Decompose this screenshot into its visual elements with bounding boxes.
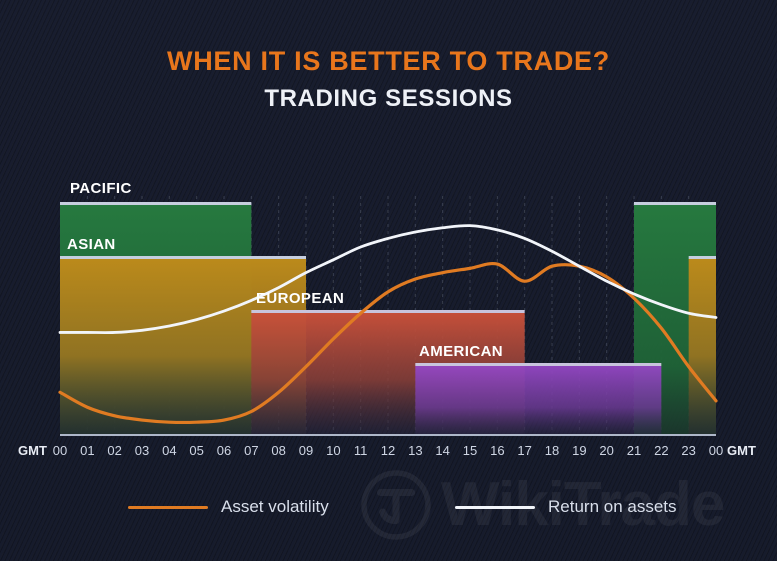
axis-tick-3: 03 (135, 443, 149, 458)
axis-tick-23: 23 (681, 443, 695, 458)
axis-unit-right: GMT (727, 443, 756, 458)
axis-tick-17: 17 (517, 443, 531, 458)
axis-tick-11: 11 (354, 443, 368, 458)
axis-tick-20: 20 (599, 443, 613, 458)
chart-legend: Asset volatilityReturn on assets (0, 497, 777, 525)
axis-tick-10: 10 (326, 443, 340, 458)
legend-item-asset-volatility: Asset volatility (128, 497, 329, 517)
legend-swatch-asset-volatility (128, 506, 208, 509)
legend-label-asset-volatility: Asset volatility (221, 497, 329, 517)
axis-tick-5: 05 (189, 443, 203, 458)
legend-swatch-return-on-assets (455, 506, 535, 509)
axis-tick-7: 07 (244, 443, 258, 458)
axis-tick-13: 13 (408, 443, 422, 458)
axis-tick-9: 09 (299, 443, 313, 458)
axis-tick-21: 21 (627, 443, 641, 458)
time-axis: GMT GMT 00010203040506070809101112131415… (0, 443, 777, 463)
axis-tick-18: 18 (545, 443, 559, 458)
axis-tick-19: 19 (572, 443, 586, 458)
axis-tick-12: 12 (381, 443, 395, 458)
axis-tick-16: 16 (490, 443, 504, 458)
axis-tick-8: 08 (271, 443, 285, 458)
session-label-asian: ASIAN (67, 236, 116, 253)
session-label-european: EUROPEAN (256, 290, 344, 307)
session-label-pacific: PACIFIC (70, 180, 132, 197)
legend-item-return-on-assets: Return on assets (455, 497, 677, 517)
axis-tick-1: 01 (80, 443, 94, 458)
axis-tick-6: 06 (217, 443, 231, 458)
axis-tick-4: 04 (162, 443, 176, 458)
axis-unit-left: GMT (18, 443, 47, 458)
axis-tick-24: 00 (709, 443, 723, 458)
axis-tick-2: 02 (107, 443, 121, 458)
axis-tick-22: 22 (654, 443, 668, 458)
axis-tick-0: 00 (53, 443, 67, 458)
axis-tick-14: 14 (435, 443, 449, 458)
trading-sessions-chart (0, 0, 777, 561)
session-label-american: AMERICAN (419, 343, 503, 360)
axis-tick-15: 15 (463, 443, 477, 458)
legend-label-return-on-assets: Return on assets (548, 497, 677, 517)
